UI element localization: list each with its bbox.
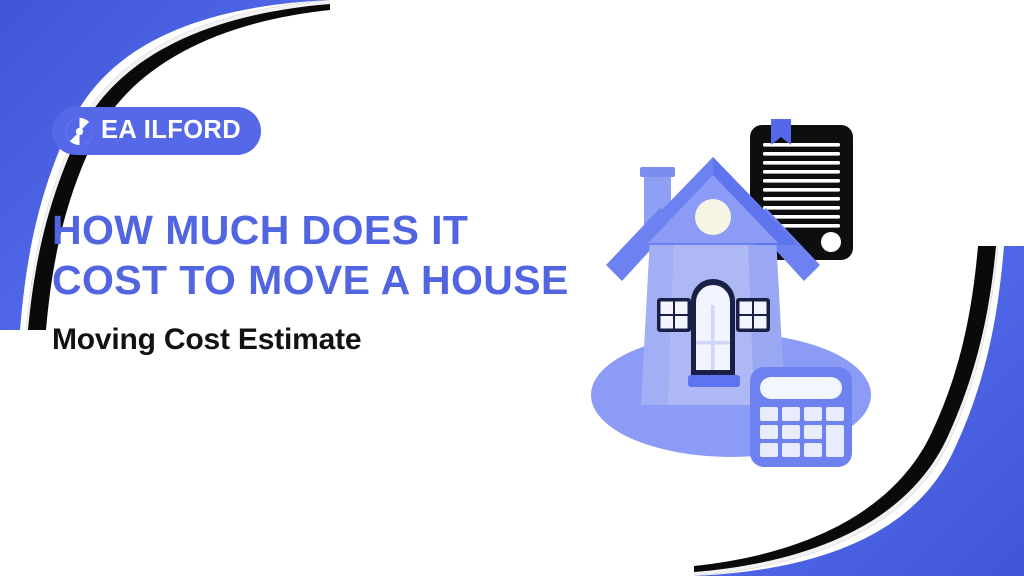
brand-logo-badge[interactable]: EA ILFORD: [52, 107, 261, 155]
front-door: [688, 279, 740, 387]
calculator-display: [760, 377, 842, 399]
promo-banner: EA ILFORD HOW MUCH DOES IT COST TO MOVE …: [0, 0, 1024, 576]
left-window: [657, 298, 691, 332]
swoosh-circle-icon: [65, 117, 94, 146]
brand-logo-label: EA ILFORD: [101, 118, 241, 144]
house-document-calculator-illustration: [588, 105, 888, 475]
door-step: [688, 375, 740, 387]
page-subtitle: Moving Cost Estimate: [52, 322, 592, 358]
headline-block: HOW MUCH DOES IT COST TO MOVE A HOUSE Mo…: [52, 205, 592, 358]
calculator: [750, 367, 852, 467]
right-window: [736, 298, 770, 332]
page-title: HOW MUCH DOES IT COST TO MOVE A HOUSE: [52, 205, 592, 305]
document-seal-dot: [821, 232, 841, 252]
attic-window: [695, 199, 731, 235]
